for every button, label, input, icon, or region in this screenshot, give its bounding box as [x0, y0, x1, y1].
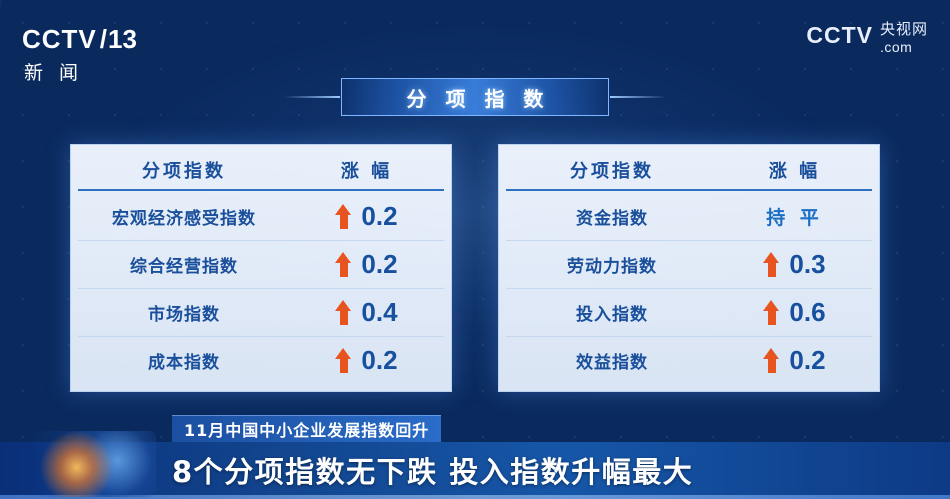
table-row: 投入指数 0.6 [506, 289, 872, 337]
cctv13-logo: CCTV / 13 新 闻 [22, 24, 137, 85]
up-arrow-icon [335, 204, 352, 229]
row-value: 0.2 [361, 345, 397, 376]
row-value: 0.4 [361, 297, 397, 328]
row-value: 0.2 [361, 201, 397, 232]
row-value-flat: 持 平 [766, 203, 823, 230]
lower-third: 11月中国中小企业发展指数回升 8个分项指数无下跌 投入指数升幅最大 [0, 414, 950, 499]
row-label: 劳动力指数 [506, 252, 718, 277]
row-value-cell: 0.2 [718, 345, 871, 376]
page-title: 分 项 指 数 [401, 83, 550, 112]
row-value-cell: 0.2 [290, 249, 443, 280]
title-banner-box: 分 项 指 数 [341, 78, 609, 116]
row-value: 0.2 [361, 249, 397, 280]
table-row: 市场指数 0.4 [78, 289, 444, 337]
kicker-text: 11月中国中小企业发展指数回升 [184, 417, 429, 441]
table-header-row: 分项指数 涨 幅 [506, 151, 872, 191]
cctv-channel-name: 新 闻 [24, 58, 83, 85]
up-arrow-icon [763, 348, 780, 373]
lower-third-graphic [28, 431, 156, 497]
up-arrow-icon [763, 252, 780, 277]
column-header-change: 涨 幅 [290, 157, 443, 183]
row-label: 资金指数 [506, 204, 718, 229]
row-value-cell: 0.4 [290, 297, 443, 328]
subindex-table-left: 分项指数 涨 幅 宏观经济感受指数 0.2 综合经营指数 0.2 市场指数 0.… [70, 144, 452, 392]
row-label: 综合经营指数 [78, 252, 290, 277]
cctvcom-logo: CCTV 央视网 .com [806, 22, 928, 54]
cctv-slash-icon: / [100, 24, 107, 55]
title-banner: 分 项 指 数 [341, 78, 609, 116]
row-value-cell: 0.2 [290, 345, 443, 376]
cctvcom-wordmark: CCTV [806, 22, 873, 49]
table-row: 劳动力指数 0.3 [506, 241, 872, 289]
cctv13-logo-row: CCTV / 13 [22, 24, 137, 55]
lower-third-kicker: 11月中国中小企业发展指数回升 [172, 415, 441, 442]
cctv-channel-number: 13 [108, 24, 137, 55]
tables-container: 分项指数 涨 幅 宏观经济感受指数 0.2 综合经营指数 0.2 市场指数 0.… [0, 144, 950, 392]
table-row: 成本指数 0.2 [78, 337, 444, 384]
column-header-change: 涨 幅 [718, 157, 871, 183]
up-arrow-icon [335, 348, 352, 373]
row-label: 投入指数 [506, 300, 718, 325]
row-label: 市场指数 [78, 300, 290, 325]
up-arrow-icon [335, 252, 352, 277]
cctvcom-domain: .com [880, 40, 928, 54]
cctv-wordmark: CCTV [22, 24, 97, 55]
subindex-table-right: 分项指数 涨 幅 资金指数 持 平 劳动力指数 0.3 投入指数 0.6 效益指… [498, 144, 880, 392]
table-header-row: 分项指数 涨 幅 [78, 151, 444, 191]
row-value-cell: 持 平 [718, 203, 871, 230]
table-row: 效益指数 0.2 [506, 337, 872, 384]
table-row: 资金指数 持 平 [506, 193, 872, 241]
table-row: 宏观经济感受指数 0.2 [78, 193, 444, 241]
table-row: 综合经营指数 0.2 [78, 241, 444, 289]
row-label: 成本指数 [78, 348, 290, 373]
row-value-cell: 0.6 [718, 297, 871, 328]
row-label: 宏观经济感受指数 [78, 204, 290, 229]
row-value-cell: 0.2 [290, 201, 443, 232]
row-value: 0.6 [789, 297, 825, 328]
lower-third-headline: 8个分项指数无下跌 投入指数升幅最大 [172, 449, 693, 491]
column-header-name: 分项指数 [506, 157, 718, 183]
row-value: 0.2 [789, 345, 825, 376]
column-header-name: 分项指数 [78, 157, 290, 183]
row-value-cell: 0.3 [718, 249, 871, 280]
up-arrow-icon [335, 300, 352, 325]
up-arrow-icon [763, 300, 780, 325]
cctvcom-text-group: 央视网 .com [880, 22, 928, 54]
row-label: 效益指数 [506, 348, 718, 373]
row-value: 0.3 [789, 249, 825, 280]
cctvcom-chinese-name: 央视网 [880, 22, 928, 37]
